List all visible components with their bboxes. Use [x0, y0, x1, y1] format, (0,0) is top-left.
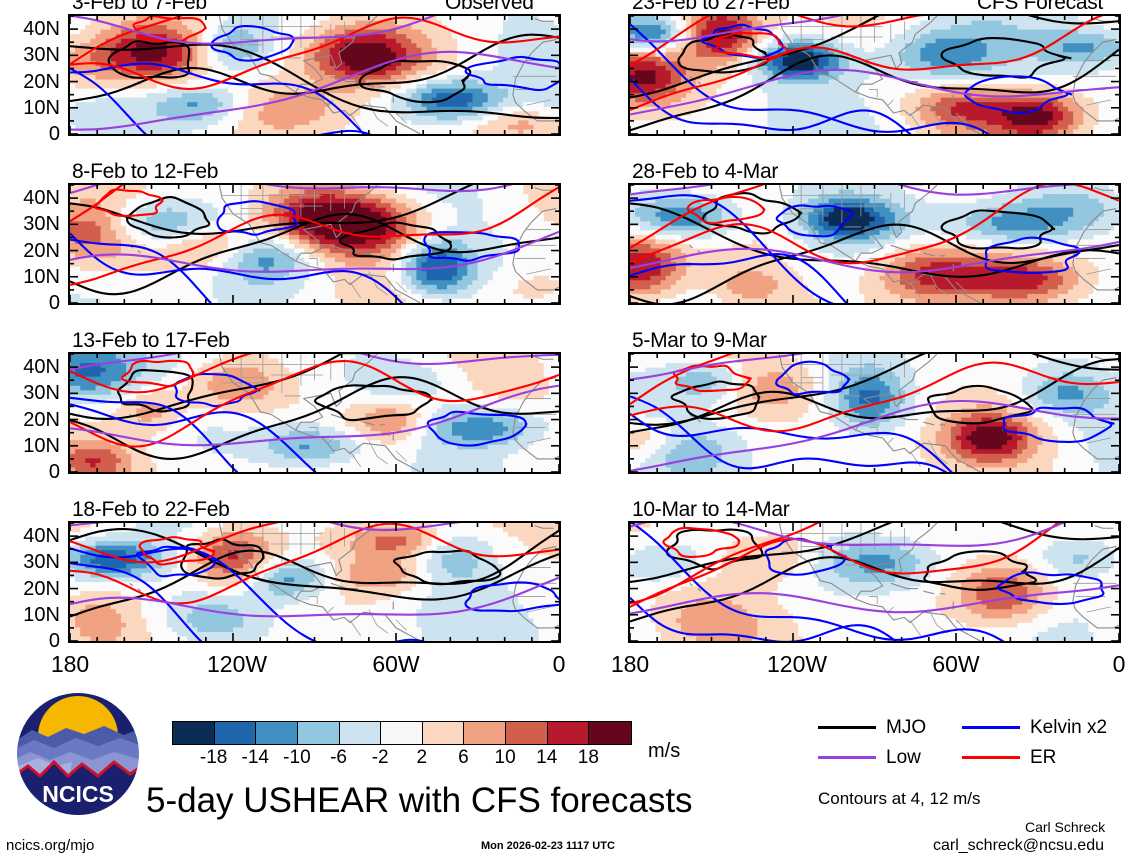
- y-axis-tick-label: 40N: [2, 188, 60, 208]
- y-axis-tick-label: 0: [2, 293, 60, 313]
- y-axis-tick-label: 40N: [2, 357, 60, 377]
- y-axis-tick-label: 20N: [2, 579, 60, 599]
- y-axis-tick-label: 0: [2, 631, 60, 651]
- x-axis-tick-label: 120W: [767, 653, 819, 676]
- y-axis-tick-label: 10N: [2, 436, 60, 456]
- legend-line-swatch: [962, 726, 1020, 729]
- colorbar-swatch: [340, 722, 382, 744]
- colorbar-units-label: m/s: [648, 741, 680, 761]
- x-axis-tick-label: 0: [1093, 653, 1135, 676]
- panel-title: 3-Feb to 7-Feb: [72, 0, 207, 13]
- site-url[interactable]: ncics.org/mjo: [6, 838, 94, 853]
- legend-label: Low: [886, 748, 921, 767]
- legend-label: MJO: [886, 718, 926, 737]
- y-axis-tick-label: 30N: [2, 383, 60, 403]
- panel-title: 10-Mar to 14-Mar: [632, 499, 789, 520]
- map-panel: [68, 521, 561, 643]
- y-axis-tick-label: 0: [2, 462, 60, 482]
- ncics-logo-text: NCICS: [42, 781, 114, 807]
- panel-title: 13-Feb to 17-Feb: [72, 330, 229, 351]
- colorbar-swatch: [173, 722, 215, 744]
- author-name: Carl Schreck: [1025, 820, 1105, 834]
- x-axis-tick-label: 180: [44, 653, 96, 676]
- map-panel: [628, 14, 1121, 136]
- ncics-logo: NCICS: [14, 690, 142, 818]
- y-axis-tick-label: 20N: [2, 241, 60, 261]
- y-axis-tick-label: 30N: [2, 214, 60, 234]
- y-axis-tick-label: 10N: [2, 98, 60, 118]
- x-axis-tick-label: 120W: [207, 653, 259, 676]
- x-axis-tick-label: 0: [533, 653, 585, 676]
- y-axis-tick-label: 40N: [2, 526, 60, 546]
- colorbar-swatch: [423, 722, 465, 744]
- y-axis-tick-label: 10N: [2, 605, 60, 625]
- ncics-logo-svg: NCICS: [14, 690, 142, 818]
- colorbar-swatch: [298, 722, 340, 744]
- colorbar-swatch: [548, 722, 590, 744]
- main-title: 5-day USHEAR with CFS forecasts: [146, 783, 693, 818]
- y-axis-tick-label: 20N: [2, 72, 60, 92]
- y-axis-tick-label: 10N: [2, 267, 60, 287]
- panel-title: 18-Feb to 22-Feb: [72, 499, 229, 520]
- y-axis-tick-label: 30N: [2, 552, 60, 572]
- colorbar-swatch: [589, 722, 631, 744]
- map-panel: [628, 521, 1121, 643]
- legend-line-swatch: [818, 756, 876, 759]
- x-axis-tick-label: 60W: [370, 653, 422, 676]
- y-axis-tick-label: 40N: [2, 19, 60, 39]
- x-axis-tick-label: 60W: [930, 653, 982, 676]
- map-panel: [68, 183, 561, 305]
- map-panel: [628, 352, 1121, 474]
- legend-label: ER: [1030, 748, 1056, 767]
- x-axis-tick-label: 180: [604, 653, 656, 676]
- map-panel: [628, 183, 1121, 305]
- y-axis-tick-label: 0: [2, 124, 60, 144]
- legend-line-swatch: [818, 726, 876, 729]
- legend-label: Kelvin x2: [1030, 718, 1107, 737]
- author-email: carl_schreck@ncsu.edu: [933, 838, 1104, 854]
- colorbar-swatch: [256, 722, 298, 744]
- column-header: CFS Forecast: [977, 0, 1103, 13]
- y-axis-tick-label: 30N: [2, 45, 60, 65]
- y-axis-tick-label: 20N: [2, 410, 60, 430]
- colorbar-swatch: [506, 722, 548, 744]
- colorbar-tick-label: 18: [564, 748, 612, 767]
- panel-title: 5-Mar to 9-Mar: [632, 330, 767, 351]
- colorbar-swatch: [381, 722, 423, 744]
- panel-title: 28-Feb to 4-Mar: [632, 161, 778, 182]
- column-header: Observed: [445, 0, 534, 13]
- colorbar: [172, 721, 632, 745]
- contour-note: Contours at 4, 12 m/s: [818, 790, 981, 807]
- panel-title: 8-Feb to 12-Feb: [72, 161, 218, 182]
- colorbar-swatch: [215, 722, 257, 744]
- map-panel: [68, 352, 561, 474]
- colorbar-swatch: [464, 722, 506, 744]
- legend-line-swatch: [962, 756, 1020, 759]
- render-timestamp: Mon 2026-02-23 1117 UTC: [481, 841, 615, 852]
- panel-title: 23-Feb to 27-Feb: [632, 0, 789, 13]
- map-panel: [68, 14, 561, 136]
